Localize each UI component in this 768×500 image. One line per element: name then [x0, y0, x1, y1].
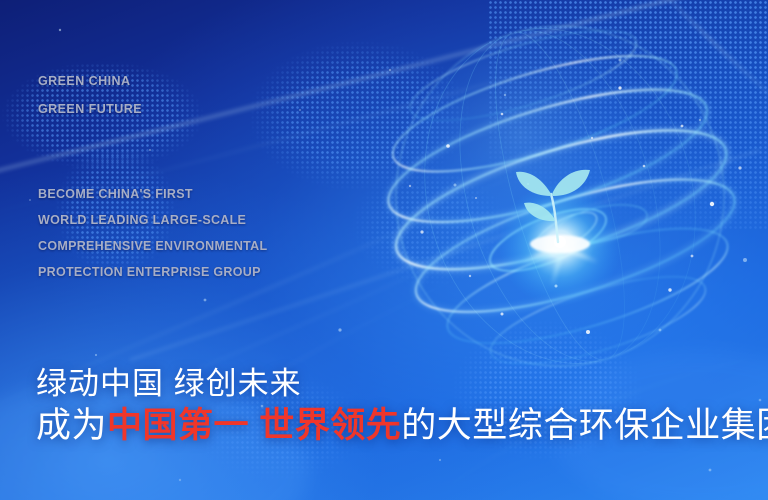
headline-block: 绿动中国 绿创未来 成为中国第一 世界领先的大型综合环保企业集团: [36, 364, 756, 448]
dot-map-region-3: [210, 20, 510, 220]
dot-map-region-5: [488, 0, 768, 230]
dot-map-region-4: [330, 140, 550, 310]
headline-highlight: 中国第一 世界领先: [107, 406, 401, 445]
tagline-line-2: GREEN FUTURE: [38, 102, 142, 116]
core-glow: [498, 182, 622, 306]
headline-line-1: 绿动中国 绿创未来: [36, 364, 756, 404]
headline-line-2: 成为中国第一 世界领先的大型综合环保企业集团: [36, 404, 756, 448]
headline-prefix: 成为: [36, 406, 107, 445]
headline-suffix: 的大型综合环保企业集团: [401, 406, 768, 445]
mission-line-2: WORLD LEADING LARGE-SCALE: [38, 213, 246, 227]
sprout-icon: [516, 170, 590, 242]
mission-line-1: BECOME CHINA'S FIRST: [38, 187, 193, 201]
wireframe-globe: [352, 18, 768, 378]
tagline-line-1: GREEN CHINA: [38, 74, 130, 88]
promotional-banner: GREEN CHINA GREEN FUTURE BECOME CHINA'S …: [0, 0, 768, 500]
mission-line-3: COMPREHENSIVE ENVIRONMENTAL: [38, 239, 267, 253]
mission-line-4: PROTECTION ENTERPRISE GROUP: [38, 265, 261, 279]
dot-map-region-1: [0, 48, 240, 198]
